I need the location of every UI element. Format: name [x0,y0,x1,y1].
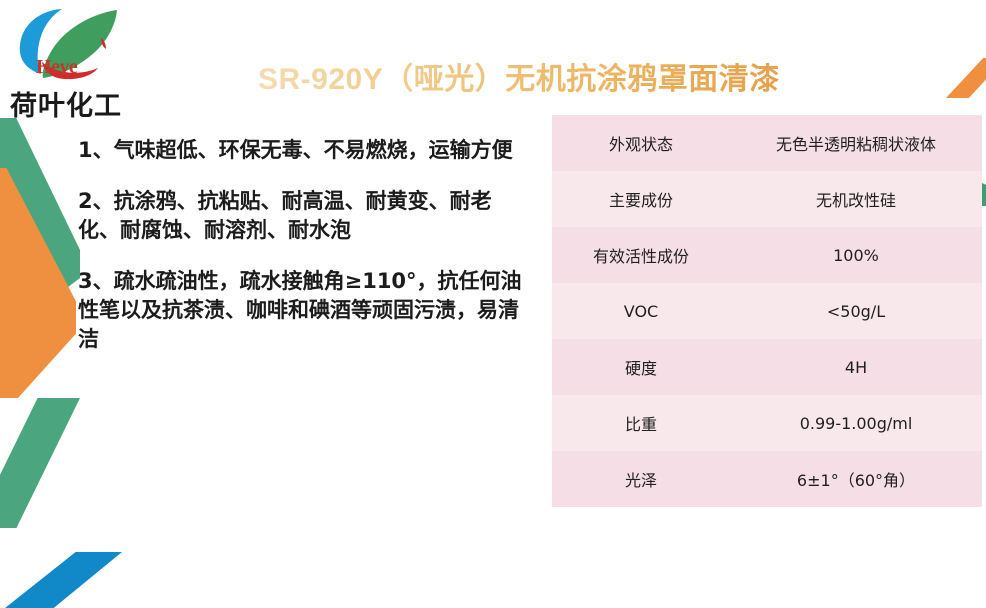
table-row: 有效活性成份 100% [552,227,982,283]
page-title: SR-920Y（哑光）无机抗涂鸦罩面清漆 [258,54,780,98]
spec-value: 无色半透明粘稠状液体 [730,115,982,171]
spec-key: 光泽 [552,451,730,507]
feature-item-2: 2、抗涂鸦、抗粘贴、耐高温、耐黄变、耐老化、耐腐蚀、耐溶剂、耐水泡 [78,187,530,245]
spec-value: 0.99-1.00g/ml [730,395,982,451]
company-logo: Heye 荷叶化工 [8,6,142,116]
spec-key: 有效活性成份 [552,227,730,283]
decor-blue-bar-bottom-left [0,552,122,608]
table-row: 外观状态 无色半透明粘稠状液体 [552,115,982,171]
spec-value: 100% [730,227,982,283]
spec-key: 比重 [552,395,730,451]
feature-item-1: 1、气味超低、环保无毒、不易燃烧，运输方便 [78,136,530,165]
specification-table: 外观状态 无色半透明粘稠状液体 主要成份 无机改性硅 有效活性成份 100% V… [552,115,982,507]
spec-key: 主要成份 [552,171,730,227]
spec-value: 4H [730,339,982,395]
spec-value: 无机改性硅 [730,171,982,227]
feature-item-3: 3、疏水疏油性，疏水接触角≥110°，抗任何油性笔以及抗茶渍、咖啡和碘酒等顽固污… [78,267,530,354]
spec-value: 6±1°（60°角） [730,451,982,507]
table-row: 比重 0.99-1.00g/ml [552,395,982,451]
table-row: 主要成份 无机改性硅 [552,171,982,227]
spec-key: VOC [552,283,730,339]
decor-teal-bar-bottom-left [0,398,80,528]
table-row: 硬度 4H [552,339,982,395]
table-row: 光泽 6±1°（60°角） [552,451,982,507]
decor-orange-bar-top-right [946,58,986,98]
spec-key: 硬度 [552,339,730,395]
spec-key: 外观状态 [552,115,730,171]
slide-canvas: Heye 荷叶化工 SR-920Y（哑光）无机抗涂鸦罩面清漆 1、气味超低、环保… [0,0,986,608]
logo-latin-wordmark: Heye [36,56,77,79]
logo-chinese-wordmark: 荷叶化工 [10,84,122,123]
spec-value: <50g/L [730,283,982,339]
table-row: VOC <50g/L [552,283,982,339]
feature-list: 1、气味超低、环保无毒、不易燃烧，运输方便 2、抗涂鸦、抗粘贴、耐高温、耐黄变、… [78,136,530,354]
